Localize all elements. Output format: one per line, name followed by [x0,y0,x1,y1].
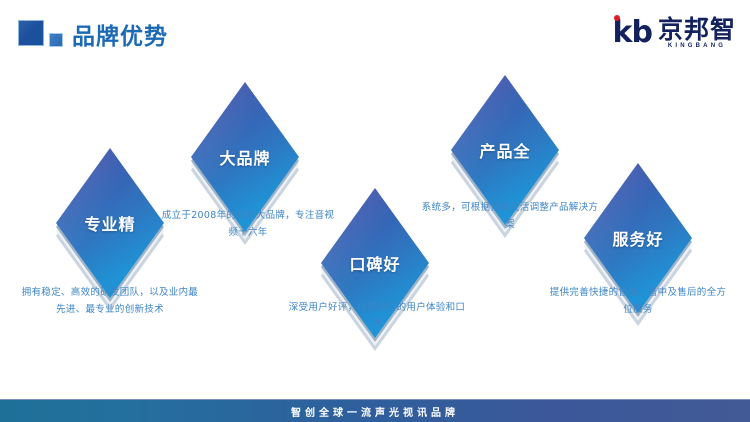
advantage-label: 大品牌 [191,82,299,232]
page-footer: 智创全球一流声光视讯品牌 [0,399,750,422]
advantage-node-reputation[interactable]: 口碑好 [321,188,429,338]
advantage-label: 口碑好 [321,188,429,338]
diamond-shape: 产品全 [451,75,559,225]
advantage-node-professional[interactable]: 专业精 [56,148,164,298]
advantage-label: 产品全 [451,75,559,225]
advantage-label: 服务好 [584,163,692,313]
advantage-node-big-brand[interactable]: 大品牌 [191,82,299,232]
advantage-label: 专业精 [56,148,164,298]
footer-slogan: 智创全球一流声光视讯品牌 [291,404,459,419]
diamond-shape: 大品牌 [191,82,299,232]
advantages-diagram: 专业精 拥有稳定、高效的研发团队，以及业内最先进、最专业的创新技术 大品牌 成立… [0,0,750,422]
advantage-node-service[interactable]: 服务好 [584,163,692,313]
diamond-shape: 专业精 [56,148,164,298]
diamond-shape: 服务好 [584,163,692,313]
advantage-node-full-product[interactable]: 产品全 [451,75,559,225]
diamond-shape: 口碑好 [321,188,429,338]
